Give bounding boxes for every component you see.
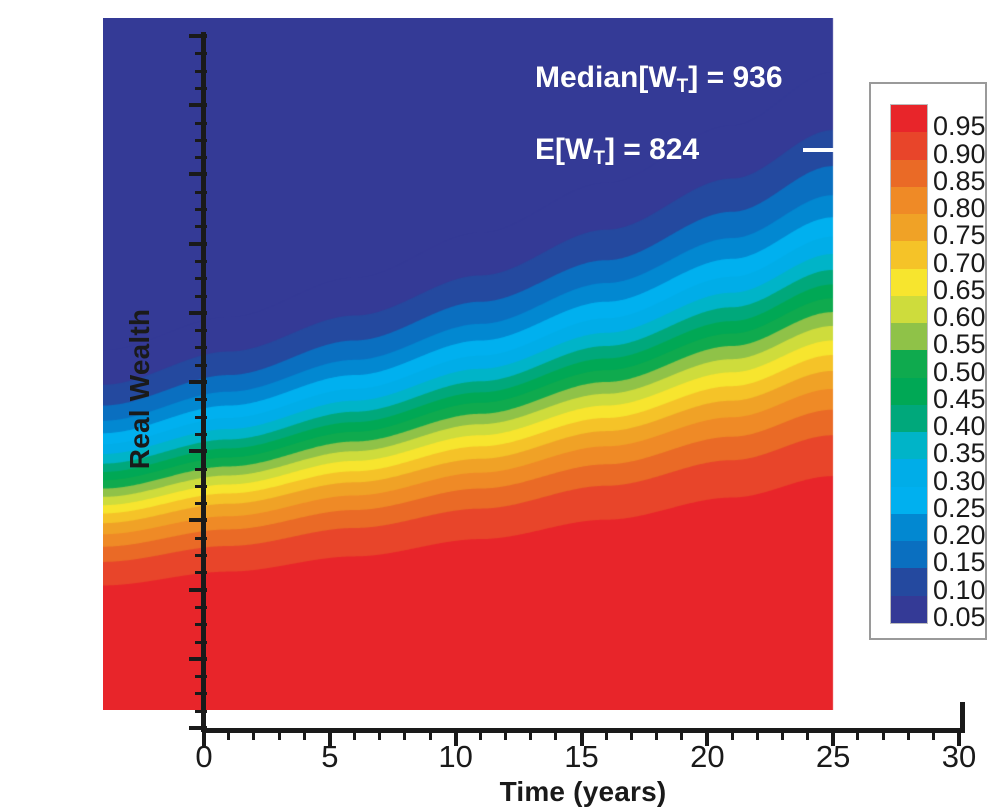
colorbar-swatch-0.80 — [891, 187, 927, 214]
y-tick-800 — [189, 172, 207, 176]
colorbar-label-0.80: 0.80 — [933, 195, 993, 222]
x-minor-tick — [378, 729, 381, 740]
x-minor-tick — [353, 729, 356, 740]
colorbar-swatch-0.60 — [891, 296, 927, 323]
y-minor-tick — [195, 641, 207, 644]
x-tick-label-10: 10 — [421, 741, 491, 772]
x-minor-tick — [554, 729, 557, 740]
annotation-mean-suffix: ] = 824 — [605, 133, 699, 166]
x-minor-tick — [504, 729, 507, 740]
colorbar-label-0.10: 0.10 — [933, 577, 993, 604]
colorbar-swatch-0.40 — [891, 405, 927, 432]
plot-area: Median[WT] = 936 E[WT] = 824 01002003004… — [103, 18, 858, 710]
colorbar-swatch-0.30 — [891, 459, 927, 486]
x-minor-tick — [227, 729, 230, 740]
colorbar-label-0.90: 0.90 — [933, 141, 993, 168]
y-minor-tick — [195, 606, 207, 609]
y-tick-1000 — [189, 34, 207, 38]
colorbar-label-0.25: 0.25 — [933, 495, 993, 522]
x-minor-tick — [605, 729, 608, 740]
y-minor-tick — [195, 329, 207, 332]
annotation-mean-subscript: T — [593, 148, 605, 169]
x-minor-tick — [882, 729, 885, 740]
y-axis-title: Real Wealth — [124, 274, 156, 504]
x-minor-tick — [932, 729, 935, 740]
x-minor-tick — [680, 729, 683, 740]
colorbar-swatch-0.75 — [891, 214, 927, 241]
y-minor-tick — [195, 208, 207, 211]
x-minor-tick — [907, 729, 910, 740]
y-minor-tick — [195, 156, 207, 159]
x-minor-tick — [278, 729, 281, 740]
colorbar-label-0.20: 0.20 — [933, 522, 993, 549]
colorbar-label-0.40: 0.40 — [933, 413, 993, 440]
colorbar-label-0.35: 0.35 — [933, 440, 993, 467]
y-tick-900 — [189, 103, 207, 107]
y-minor-tick — [195, 87, 207, 90]
x-minor-tick — [252, 729, 255, 740]
x-tick-label-5: 5 — [295, 741, 365, 772]
y-minor-tick — [195, 571, 207, 574]
x-axis-line — [202, 728, 965, 733]
y-tick-200 — [189, 588, 207, 592]
y-minor-tick — [195, 260, 207, 263]
y-minor-tick — [195, 398, 207, 401]
x-minor-tick — [303, 729, 306, 740]
y-tick-400 — [189, 449, 207, 453]
x-minor-tick — [655, 729, 658, 740]
y-minor-tick — [195, 692, 207, 695]
colorbar-label-0.95: 0.95 — [933, 113, 993, 140]
colorbar-swatch-0.70 — [891, 241, 927, 268]
y-tick-600 — [189, 311, 207, 315]
y-tick-500 — [189, 380, 207, 384]
x-tick-label-0: 0 — [169, 741, 239, 772]
y-minor-tick — [195, 502, 207, 505]
y-tick-700 — [189, 242, 207, 246]
x-minor-tick — [529, 729, 532, 740]
colorbar-label-0.75: 0.75 — [933, 222, 993, 249]
colorbar-swatch-0.20 — [891, 514, 927, 541]
y-minor-tick — [195, 346, 207, 349]
colorbar-swatch-0.10 — [891, 568, 927, 595]
colorbar-swatch-0.05 — [891, 596, 927, 623]
x-minor-tick — [781, 729, 784, 740]
colorbar-label-0.05: 0.05 — [933, 604, 993, 631]
x-minor-tick — [630, 729, 633, 740]
y-minor-tick — [195, 468, 207, 471]
y-minor-tick — [195, 675, 207, 678]
colorbar-label-0.65: 0.65 — [933, 277, 993, 304]
y-minor-tick — [195, 277, 207, 280]
y-minor-tick — [195, 710, 207, 713]
colorbar-swatch-0.45 — [891, 378, 927, 405]
annotation-median-suffix: ] = 936 — [688, 61, 782, 94]
y-minor-tick — [195, 623, 207, 626]
colorbar-label-0.85: 0.85 — [933, 168, 993, 195]
colorbar-label-0.70: 0.70 — [933, 250, 993, 277]
x-minor-tick — [806, 729, 809, 740]
colorbar-label-0.60: 0.60 — [933, 304, 993, 331]
x-minor-tick — [856, 729, 859, 740]
contour-plot-figure: Median[WT] = 936 E[WT] = 824 01002003004… — [0, 0, 994, 795]
y-minor-tick — [195, 70, 207, 73]
annotation-mean: E[WT] = 824 — [535, 135, 699, 165]
y-minor-tick — [195, 225, 207, 228]
x-tick-label-15: 15 — [547, 741, 617, 772]
colorbar-swatch-0.85 — [891, 160, 927, 187]
colorbar-swatch-0.25 — [891, 487, 927, 514]
y-minor-tick — [195, 416, 207, 419]
contour-plot-canvas-wrap — [103, 18, 851, 710]
colorbar-labels: 0.950.900.850.800.750.700.650.600.550.50… — [933, 84, 989, 642]
colorbar-swatch-0.15 — [891, 541, 927, 568]
colorbar-swatch-0.35 — [891, 432, 927, 459]
contour-plot-canvas — [103, 18, 851, 710]
x-minor-tick — [403, 729, 406, 740]
colorbar-swatch-0.65 — [891, 269, 927, 296]
colorbar-swatch-0.90 — [891, 132, 927, 159]
annotation-median-subscript: T — [677, 76, 689, 97]
colorbar-swatch-0.95 — [891, 105, 927, 132]
x-minor-tick — [479, 729, 482, 740]
colorbar-label-0.30: 0.30 — [933, 468, 993, 495]
x-tick-label-30: 30 — [924, 741, 994, 772]
y-minor-tick — [195, 52, 207, 55]
y-minor-tick — [195, 433, 207, 436]
x-minor-tick — [429, 729, 432, 740]
colorbar-legend: 0.950.900.850.800.750.700.650.600.550.50… — [869, 82, 987, 640]
y-minor-tick — [195, 139, 207, 142]
y-minor-tick — [195, 485, 207, 488]
y-minor-tick — [195, 364, 207, 367]
x-axis-title: Time (years) — [403, 776, 763, 808]
y-minor-tick — [195, 295, 207, 298]
x-minor-tick — [731, 729, 734, 740]
x-tick-label-25: 25 — [798, 741, 868, 772]
colorbar-swatch-0.55 — [891, 323, 927, 350]
colorbar-label-0.55: 0.55 — [933, 331, 993, 358]
annotation-mean-prefix: E[W — [535, 133, 593, 166]
y-minor-tick — [195, 191, 207, 194]
annotation-median-prefix: Median[W — [535, 61, 677, 94]
y-tick-300 — [189, 518, 207, 522]
y-minor-tick — [195, 554, 207, 557]
colorbar-swatches — [890, 104, 928, 624]
y-tick-100 — [189, 657, 207, 661]
colorbar-swatch-0.50 — [891, 350, 927, 377]
annotation-median: Median[WT] = 936 — [535, 63, 783, 93]
x-tick-label-20: 20 — [672, 741, 742, 772]
y-minor-tick — [195, 537, 207, 540]
colorbar-label-0.15: 0.15 — [933, 549, 993, 576]
colorbar-label-0.45: 0.45 — [933, 386, 993, 413]
x-minor-tick — [756, 729, 759, 740]
colorbar-label-0.50: 0.50 — [933, 359, 993, 386]
y-minor-tick — [195, 122, 207, 125]
